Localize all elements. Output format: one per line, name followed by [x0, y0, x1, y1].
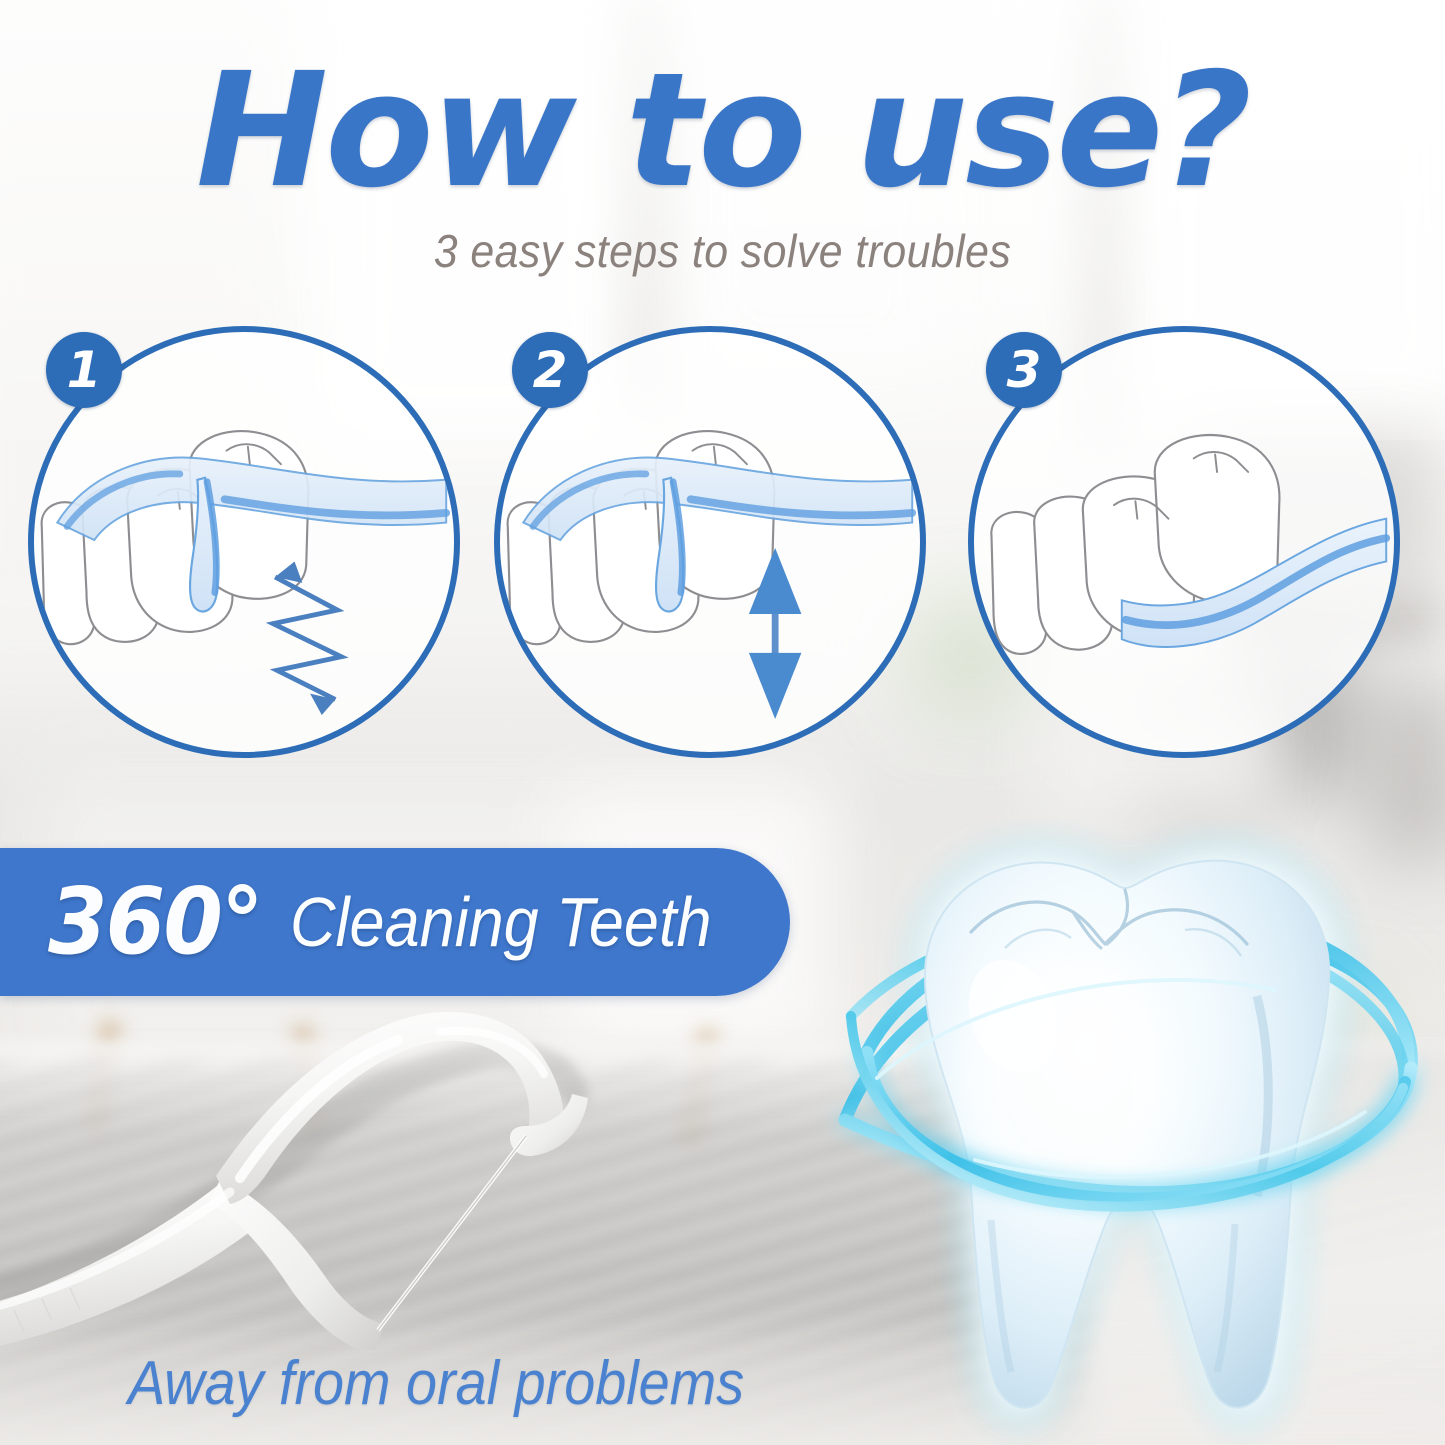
tooth-illustration	[805, 820, 1445, 1445]
banner-label: Cleaning Teeth	[290, 887, 712, 957]
infographic-canvas: How to use? 3 easy steps to solve troubl…	[0, 0, 1445, 1445]
page-subtitle: 3 easy steps to solve troubles	[51, 224, 1395, 278]
step-badge-1: 1	[46, 332, 122, 408]
footer-tagline: Away from oral problems	[128, 1348, 744, 1419]
cleaning-banner: 360° Cleaning Teeth	[0, 848, 790, 996]
steps-row: 1	[0, 322, 1445, 772]
page-title: How to use?	[0, 52, 1445, 210]
step-badge-2: 2	[512, 332, 588, 408]
header: How to use? 3 easy steps to solve troubl…	[0, 52, 1445, 278]
step-card-2: 2	[494, 326, 926, 758]
step-card-3: 3	[968, 326, 1400, 758]
banner-degrees: 360°	[48, 876, 262, 968]
floss-pick-photo	[0, 990, 630, 1350]
step-badge-3: 3	[986, 332, 1062, 408]
step-card-1: 1	[28, 326, 460, 758]
